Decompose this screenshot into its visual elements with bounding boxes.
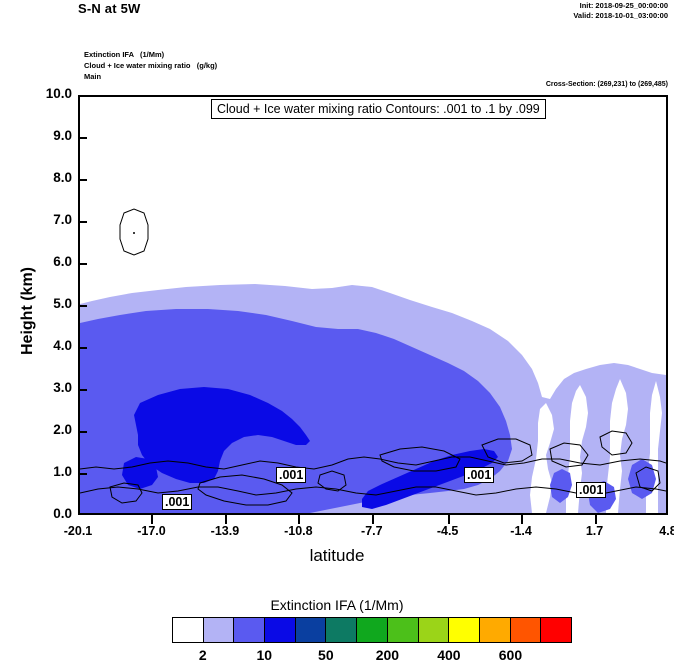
y-tick-mark bbox=[78, 305, 87, 307]
contour-field bbox=[80, 97, 666, 513]
colorbar-cell bbox=[449, 618, 480, 642]
y-tick-label: 10.0 bbox=[12, 86, 72, 101]
contour-title-box: Cloud + Ice water mixing ratio Contours:… bbox=[211, 99, 546, 119]
cross-section-info: Cross-Section: (269,231) to (269,485) bbox=[546, 81, 668, 88]
x-tick-label: -10.8 bbox=[268, 524, 328, 538]
x-tick-label: 4.8 bbox=[638, 524, 674, 538]
y-axis-label: Height (km) bbox=[19, 221, 37, 401]
colorbar-tick-label: 600 bbox=[480, 647, 540, 663]
colorbar-cell bbox=[173, 618, 204, 642]
colorbar-tick-label: 10 bbox=[234, 647, 294, 663]
x-tick-mark bbox=[595, 515, 597, 524]
y-tick-mark bbox=[78, 137, 87, 139]
colorbar-cell bbox=[541, 618, 571, 642]
colorbar-cell bbox=[234, 618, 265, 642]
contour-label: .001 bbox=[464, 467, 494, 483]
y-tick-mark bbox=[78, 473, 87, 475]
colorbar-cell bbox=[480, 618, 511, 642]
colorbar-tick-label: 50 bbox=[296, 647, 356, 663]
y-tick-label: 1.0 bbox=[12, 464, 72, 479]
x-tick-label: 1.7 bbox=[565, 524, 625, 538]
colorbar-title: Extinction IFA (1/Mm) bbox=[0, 597, 674, 613]
x-tick-mark bbox=[372, 515, 374, 524]
x-tick-label: -4.5 bbox=[418, 524, 478, 538]
colorbar-cell bbox=[357, 618, 388, 642]
timestamp-block: Init: 2018-09-25_00:00:00 Valid: 2018-10… bbox=[573, 1, 668, 21]
y-tick-label: 8.0 bbox=[12, 170, 72, 185]
valid-time: Valid: 2018-10-01_03:00:00 bbox=[573, 11, 668, 21]
colorbar-cell bbox=[204, 618, 235, 642]
y-tick-mark bbox=[78, 95, 87, 97]
contour-center-dot bbox=[133, 232, 135, 234]
x-tick-mark bbox=[448, 515, 450, 524]
x-tick-mark bbox=[151, 515, 153, 524]
y-tick-mark bbox=[78, 179, 87, 181]
y-tick-mark bbox=[78, 263, 87, 265]
x-tick-label: -7.7 bbox=[342, 524, 402, 538]
colorbar-cell bbox=[296, 618, 327, 642]
x-tick-mark bbox=[298, 515, 300, 524]
y-tick-mark bbox=[78, 431, 87, 433]
y-tick-label: 2.0 bbox=[12, 422, 72, 437]
x-tick-label: -13.9 bbox=[195, 524, 255, 538]
y-tick-label: 9.0 bbox=[12, 128, 72, 143]
colorbar-cell bbox=[326, 618, 357, 642]
y-tick-mark bbox=[78, 221, 87, 223]
x-tick-mark bbox=[521, 515, 523, 524]
contour-label: .001 bbox=[162, 494, 192, 510]
contour-label: .001 bbox=[576, 482, 606, 498]
y-tick-label: 0.0 bbox=[12, 506, 72, 521]
init-time: Init: 2018-09-25_00:00:00 bbox=[573, 1, 668, 11]
x-axis-label: latitude bbox=[0, 546, 674, 566]
colorbar-tick-label: 400 bbox=[419, 647, 479, 663]
colorbar-tick-label: 200 bbox=[357, 647, 417, 663]
colorbar-cell bbox=[265, 618, 296, 642]
shade-blob-right-3 bbox=[628, 459, 656, 499]
variable-list: Extinction IFA (1/Mm) Cloud + Ice water … bbox=[84, 49, 217, 82]
page-title: S-N at 5W bbox=[78, 1, 140, 16]
x-tick-label: -17.0 bbox=[121, 524, 181, 538]
x-tick-label: -20.1 bbox=[48, 524, 108, 538]
colorbar-cell bbox=[511, 618, 542, 642]
x-tick-mark bbox=[225, 515, 227, 524]
colorbar bbox=[172, 617, 572, 643]
contour-label: .001 bbox=[276, 467, 306, 483]
colorbar-cell bbox=[388, 618, 419, 642]
y-tick-mark bbox=[78, 389, 87, 391]
x-tick-label: -1.4 bbox=[491, 524, 551, 538]
colorbar-tick-label: 2 bbox=[173, 647, 233, 663]
y-tick-mark bbox=[78, 347, 87, 349]
cross-section-plot: .001 .001 .001 .001 Cloud + Ice water mi… bbox=[78, 95, 668, 515]
colorbar-cell bbox=[419, 618, 450, 642]
